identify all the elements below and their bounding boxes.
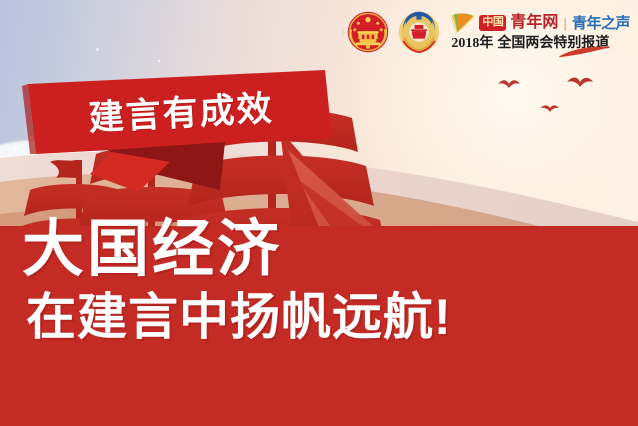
ribbon-banner: 建言有成效 [20,62,350,192]
youth-leaf-icon [450,11,476,35]
cppcc-emblem-icon [397,10,441,54]
brand-voice-text: 青年之声 [572,16,630,31]
brand-main-text: 青年网 [510,15,558,31]
brand-block: 中国 青年网 | 青年之声 2018年 全国两会特别报道 [448,12,630,52]
brand-row-secondary: 2018年 全国两会特别报道 [450,35,609,52]
bird-icon [567,77,593,87]
year-text: 2018年 [451,37,493,52]
headline-line-1: 大国经济 [22,218,562,281]
brand-row-primary: 中国 青年网 | 青年之声 [450,12,630,34]
header-branding: 中国 青年网 | 青年之声 2018年 全国两会特别报道 [346,4,630,60]
bird-icon [540,105,559,112]
headline-line-2: 在建言中扬帆远航! [22,291,562,344]
swoosh-underline-icon [557,46,613,58]
headline-block: 大国经济 在建言中扬帆远航! [22,218,562,344]
national-emblem-of-china-icon [346,10,390,54]
brand-separator: | [562,16,568,30]
bird-icon [498,80,520,88]
bird-flock [498,77,593,112]
poster-root: 中国 青年网 | 青年之声 2018年 全国两会特别报道 [0,0,638,426]
cn-badge: 中国 [479,15,506,31]
